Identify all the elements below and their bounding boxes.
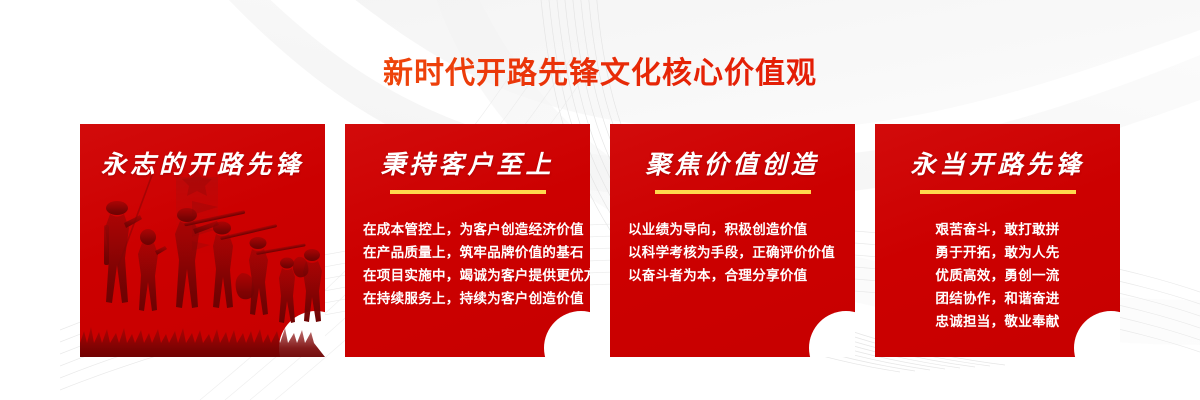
corner-notch <box>544 311 590 357</box>
card-body-line: 在持续服务上，持续为客户创造价值 <box>363 287 574 310</box>
card-body-line: 勇于开拓，敢为人先 <box>891 241 1104 264</box>
page-title: 新时代开路先锋文化核心价值观 <box>0 54 1200 94</box>
card-title: 聚焦价值创造 <box>610 148 855 182</box>
card-underline <box>390 190 546 194</box>
card-body-line: 以科学考核为手段，正确评价价值 <box>628 241 839 264</box>
value-cards-row: 永志的开路先锋 秉持客户至上 在成本管控上，为客户创造经济价值 在产品质量上，筑… <box>80 124 1120 357</box>
card-body-line: 以业绩为导向，积极创造价值 <box>628 218 839 241</box>
card-body-line: 在项目实施中，竭诚为客户提供更优方案 <box>363 264 574 287</box>
value-card-always-pioneer[interactable]: 永当开路先锋 艰苦奋斗，敢打敢拼 勇于开拓，敢为人先 优质高效，勇创一流 团结协… <box>875 124 1120 357</box>
corner-notch <box>279 311 325 357</box>
card-body: 在成本管控上，为客户创造经济价值 在产品质量上，筑牢品牌价值的基石 在项目实施中… <box>345 218 590 310</box>
banner-page: 新时代开路先锋文化核心价值观 <box>0 0 1200 400</box>
corner-notch <box>809 311 855 357</box>
card-title: 永当开路先锋 <box>875 148 1120 182</box>
card-underline <box>920 190 1076 194</box>
card-body-line: 忠诚担当，敬业奉献 <box>891 310 1104 333</box>
card-underline <box>655 190 811 194</box>
card-body-line: 团结协作，和谐奋进 <box>891 287 1104 310</box>
card-body-line: 在成本管控上，为客户创造经济价值 <box>363 218 574 241</box>
card-body-line: 艰苦奋斗，敢打敢拼 <box>891 218 1104 241</box>
card-title: 永志的开路先锋 <box>80 148 325 182</box>
value-card-pioneer-forever[interactable]: 永志的开路先锋 <box>80 124 325 357</box>
card-body: 艰苦奋斗，敢打敢拼 勇于开拓，敢为人先 优质高效，勇创一流 团结协作，和谐奋进 … <box>875 218 1120 333</box>
card-body-line: 以奋斗者为本，合理分享价值 <box>628 264 839 287</box>
card-title: 秉持客户至上 <box>345 148 590 182</box>
card-body-line: 优质高效，勇创一流 <box>891 264 1104 287</box>
value-card-value-creation[interactable]: 聚焦价值创造 以业绩为导向，积极创造价值 以科学考核为手段，正确评价价值 以奋斗… <box>610 124 855 357</box>
card-body: 以业绩为导向，积极创造价值 以科学考核为手段，正确评价价值 以奋斗者为本，合理分… <box>610 218 855 287</box>
value-card-customer-first[interactable]: 秉持客户至上 在成本管控上，为客户创造经济价值 在产品质量上，筑牢品牌价值的基石… <box>345 124 590 357</box>
card-body-line: 在产品质量上，筑牢品牌价值的基石 <box>363 241 574 264</box>
